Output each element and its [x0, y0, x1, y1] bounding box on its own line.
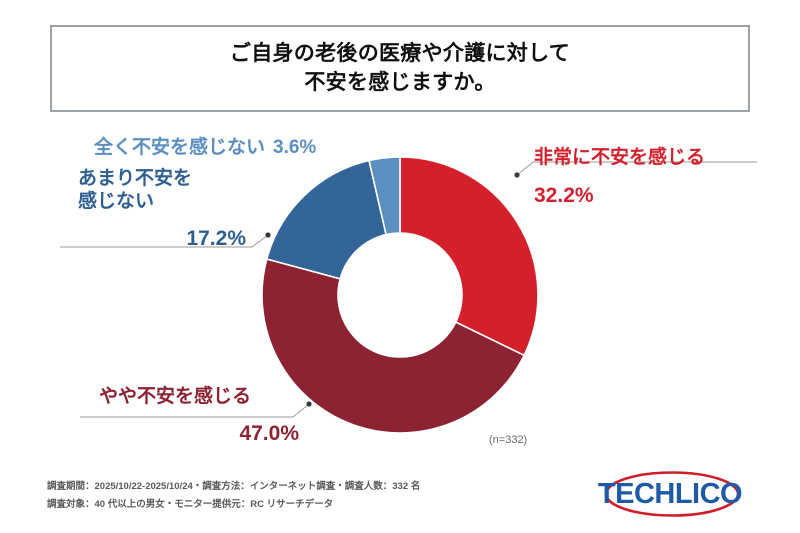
- slice-label-none-pct: 3.6%: [273, 137, 316, 158]
- slice-label-some-text: やや不安を感じる: [99, 386, 299, 409]
- techlico-logo: TECHLICO: [592, 468, 752, 520]
- donut-slices: [262, 157, 538, 433]
- donut-slice: [400, 157, 538, 355]
- survey-footnote-line-2: 調査対象：40 代以上の男女・モニター提供元：RC リサーチデータ: [47, 496, 567, 514]
- chart-title-box: ご自身の老後の医療や介護に対して 不安を感じますか。: [50, 25, 750, 112]
- slice-label-some-pct: 47.0%: [99, 421, 299, 446]
- donut-slice: [267, 161, 386, 279]
- logo-wordmark: TECHLICO: [598, 478, 742, 510]
- slice-label-little-text-1: あまり不安を: [78, 168, 246, 191]
- survey-footnote-line-1: 調査期間：2025/10/22-2025/10/24・調査方法：インターネット調…: [47, 478, 567, 496]
- page-title-line-1: ご自身の老後の医療や介護に対して: [230, 40, 570, 69]
- leader-dot-little: [265, 232, 270, 237]
- slice-label-none: 全く不安を感じない3.6%: [94, 137, 316, 160]
- survey-footnote: 調査期間：2025/10/22-2025/10/24・調査方法：インターネット調…: [47, 478, 567, 513]
- slice-label-strong: 非常に不安を感じる 32.2%: [534, 147, 705, 208]
- donut-chart-area: 全く不安を感じない3.6% あまり不安を 感じない 17.2% 非常に不安を感じ…: [0, 112, 800, 462]
- leader-dot-some: [306, 401, 311, 406]
- slice-label-little: あまり不安を 感じない 17.2%: [78, 168, 246, 251]
- slice-label-little-pct: 17.2%: [78, 226, 246, 251]
- slice-label-strong-text: 非常に不安を感じる: [534, 147, 705, 170]
- slice-label-strong-pct: 32.2%: [534, 183, 705, 208]
- slice-label-some: やや不安を感じる 47.0%: [99, 386, 299, 446]
- page-title-line-2: 不安を感じますか。: [304, 69, 495, 98]
- slice-label-none-text: 全く不安を感じない: [94, 137, 265, 158]
- leader-dot-strong: [514, 172, 519, 177]
- slice-label-little-text-2: 感じない: [78, 191, 246, 214]
- sample-size-annotation: (n=332): [489, 434, 527, 446]
